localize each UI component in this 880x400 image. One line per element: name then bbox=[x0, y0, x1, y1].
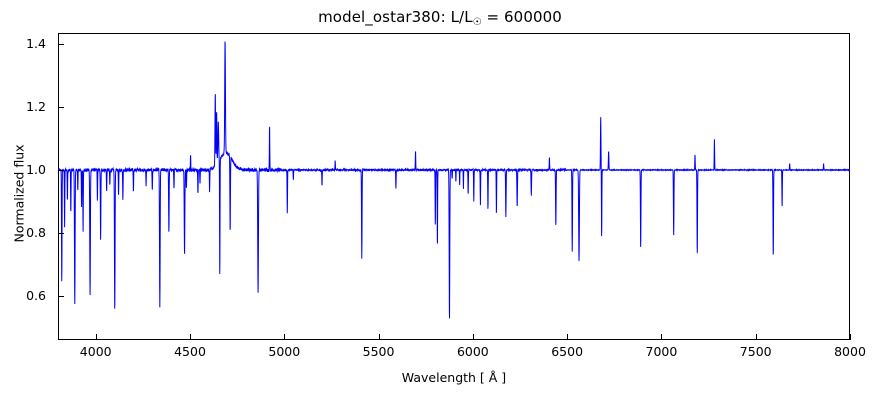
x-tick-label: 4000 bbox=[80, 344, 112, 359]
x-axis-title: Wavelength [ Å ] bbox=[58, 370, 850, 385]
x-tick-mark bbox=[756, 334, 757, 340]
x-tick-label: 6500 bbox=[551, 344, 583, 359]
x-tick-mark bbox=[850, 334, 851, 340]
spectrum-trace bbox=[58, 42, 850, 319]
x-tick-mark bbox=[284, 334, 285, 340]
chart-title: model_ostar380: L/L☉ = 600000 bbox=[0, 8, 880, 28]
y-tick-mark bbox=[58, 44, 64, 45]
x-tick-label: 7000 bbox=[646, 344, 678, 359]
spectrum-figure: model_ostar380: L/L☉ = 600000 0.60.81.01… bbox=[0, 0, 880, 400]
y-tick-mark bbox=[58, 296, 64, 297]
y-tick-mark bbox=[58, 107, 64, 108]
x-tick-mark bbox=[190, 334, 191, 340]
x-tick-label: 6000 bbox=[457, 344, 489, 359]
x-tick-label: 5000 bbox=[268, 344, 300, 359]
y-tick-label: 1.4 bbox=[0, 36, 46, 51]
x-tick-mark bbox=[567, 334, 568, 340]
chart-title-suffix: = 600000 bbox=[482, 8, 562, 26]
x-tick-mark bbox=[661, 334, 662, 340]
x-tick-mark bbox=[473, 334, 474, 340]
y-tick-mark bbox=[58, 233, 64, 234]
y-axis-title: Normalized flux bbox=[12, 94, 27, 294]
x-tick-label: 4500 bbox=[174, 344, 206, 359]
x-tick-label: 7500 bbox=[740, 344, 772, 359]
x-tick-mark bbox=[96, 334, 97, 340]
x-tick-label: 5500 bbox=[363, 344, 395, 359]
spectrum-line-plot bbox=[58, 33, 850, 340]
solar-symbol-subscript: ☉ bbox=[473, 17, 482, 28]
x-tick-mark bbox=[379, 334, 380, 340]
chart-title-prefix: model_ostar380: L/L bbox=[318, 8, 473, 26]
y-tick-mark bbox=[58, 170, 64, 171]
x-tick-label: 8000 bbox=[834, 344, 866, 359]
